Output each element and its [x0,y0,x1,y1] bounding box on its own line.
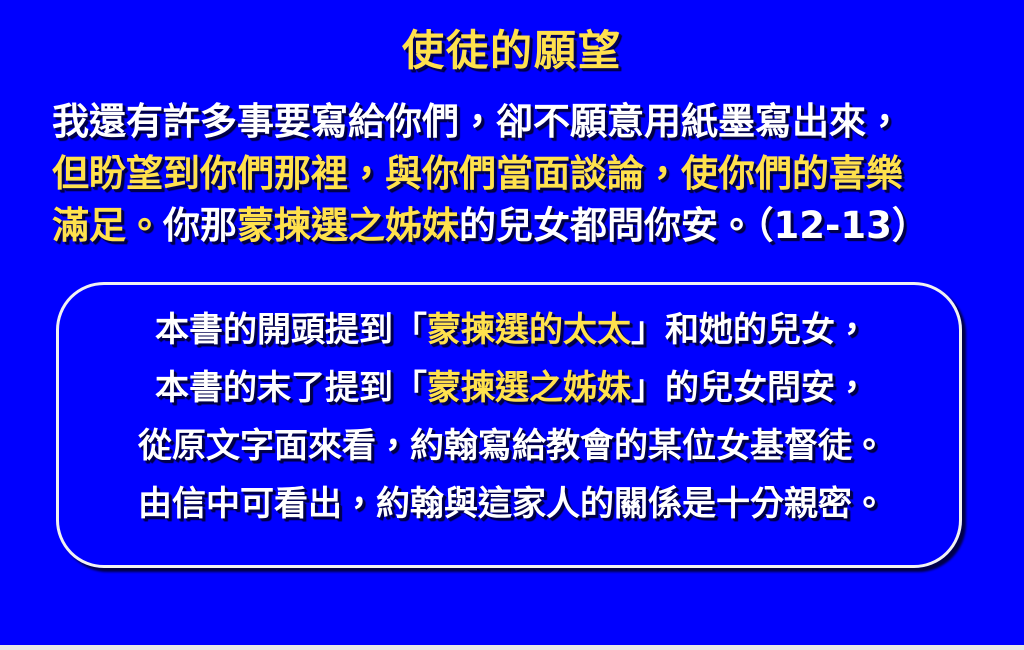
bottom-strip [0,645,1024,650]
text-line: 從原文字面來看，約翰寫給教會的某位女基督徒。 [59,417,965,475]
commentary-box: 本書的開頭提到「蒙揀選的太太」和她的兒女，本書的末了提到「蒙揀選之姊妹」的兒女問… [56,282,962,568]
text-run: 由信中可看出，約翰與這家人的關係是十分親密。 [138,484,886,524]
text-line: 但盼望到你們那裡，與你們當面談論，使你們的喜樂 [52,148,978,200]
scripture-passage: 我還有許多事要寫給你們，卻不願意用紙墨寫出來，但盼望到你們那裡，與你們當面談論，… [52,96,978,252]
text-run: 蒙揀選的太太 [427,310,631,350]
text-run: 」的兒女問安， [631,368,869,408]
text-run: 本書的末了提到「 [155,368,427,408]
text-run: 你那 [163,204,237,247]
text-line: 本書的開頭提到「蒙揀選的太太」和她的兒女， [59,301,965,359]
text-run: 我還有許多事要寫給你們，卻不願意用紙墨寫出來， [52,100,903,143]
text-run: 本書的開頭提到「 [155,310,427,350]
text-line: 滿足。你那蒙揀選之姊妹的兒女都問你安。（12-13） [52,200,978,252]
commentary-text: 本書的開頭提到「蒙揀選的太太」和她的兒女，本書的末了提到「蒙揀選之姊妹」的兒女問… [59,301,965,533]
text-run: 從原文字面來看，約翰寫給教會的某位女基督徒。 [138,426,886,466]
text-line: 我還有許多事要寫給你們，卻不願意用紙墨寫出來， [52,96,978,148]
text-line: 本書的末了提到「蒙揀選之姊妹」的兒女問安， [59,359,965,417]
text-run: 蒙揀選之姊妹 [427,368,631,408]
slide-canvas: 使徒的願望 我還有許多事要寫給你們，卻不願意用紙墨寫出來，但盼望到你們那裡，與你… [0,0,1024,650]
text-run: 滿足。 [52,204,163,247]
text-run: 但盼望到你們那裡，與你們當面談論，使你們的喜樂 [52,152,903,195]
text-run: 的兒女都問你安。（12-13） [459,204,929,247]
page-title: 使徒的願望 [0,28,1024,74]
text-line: 由信中可看出，約翰與這家人的關係是十分親密。 [59,475,965,533]
text-run: 蒙揀選之姊妹 [237,204,459,247]
text-run: 」和她的兒女， [631,310,869,350]
